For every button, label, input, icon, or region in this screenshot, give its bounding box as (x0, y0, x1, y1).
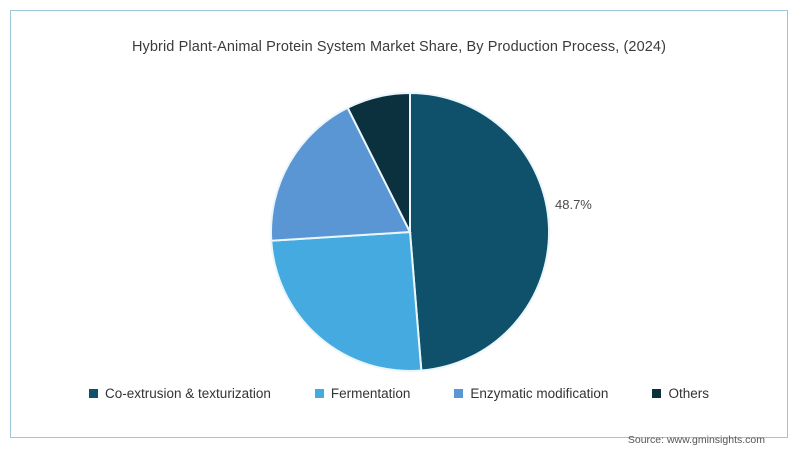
legend-item[interactable]: Co-extrusion & texturization (89, 386, 271, 401)
legend-item-label: Fermentation (331, 386, 411, 401)
legend-item[interactable]: Fermentation (315, 386, 411, 401)
slice-percent-label: 48.7% (555, 197, 592, 212)
legend-swatch-icon (315, 389, 324, 398)
pie-chart (269, 91, 551, 373)
page-title: Hybrid Plant-Animal Protein System Marke… (11, 39, 787, 55)
legend-swatch-icon (454, 389, 463, 398)
pie-slice[interactable] (271, 232, 421, 371)
pie-chart-svg (269, 91, 551, 373)
pie-slice-group (271, 93, 549, 371)
pie-slice[interactable] (410, 93, 549, 371)
chart-frame: Hybrid Plant-Animal Protein System Marke… (10, 10, 788, 438)
legend-item[interactable]: Enzymatic modification (454, 386, 608, 401)
legend-item-label: Enzymatic modification (470, 386, 608, 401)
legend-item-label: Co-extrusion & texturization (105, 386, 271, 401)
legend-item[interactable]: Others (652, 386, 709, 401)
legend-item-label: Others (668, 386, 709, 401)
source-note: Source: www.gminsights.com (628, 434, 765, 446)
legend-swatch-icon (89, 389, 98, 398)
legend-swatch-icon (652, 389, 661, 398)
chart-legend: Co-extrusion & texturizationFermentation… (11, 386, 787, 401)
